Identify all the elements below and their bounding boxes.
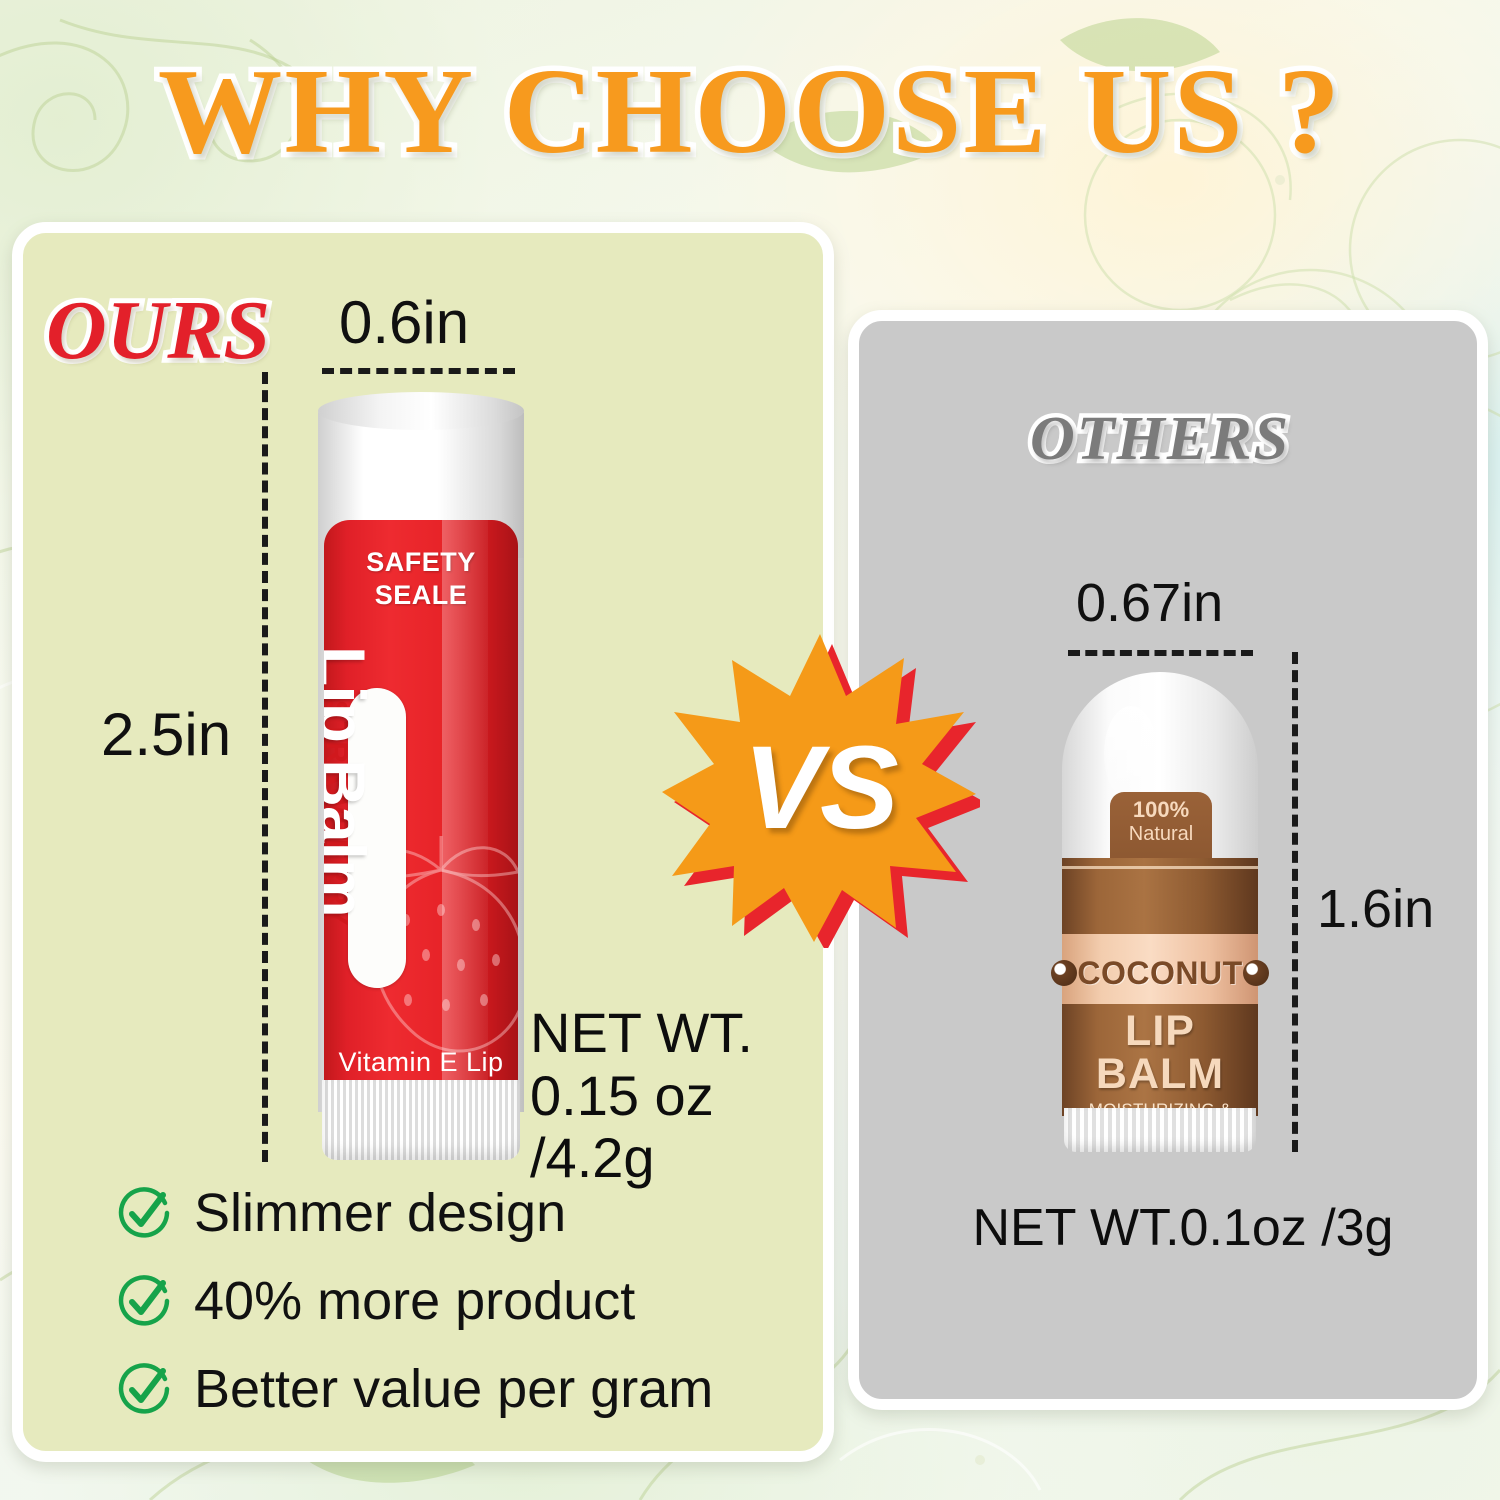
benefit-label: Slimmer design bbox=[194, 1186, 566, 1240]
others-width-dashed-line bbox=[1068, 650, 1253, 656]
others-tube-base bbox=[1064, 1108, 1256, 1152]
others-badge-top: 100% bbox=[1133, 797, 1189, 822]
others-height-dashed-line bbox=[1292, 652, 1298, 1152]
vs-label: VS bbox=[660, 628, 980, 948]
others-width-label: 0.67in bbox=[1076, 572, 1223, 634]
ours-tube-cap-top-ellipse bbox=[318, 392, 524, 430]
ours-width-label: 0.6in bbox=[339, 288, 469, 357]
ours-product-name: Lip Balm bbox=[324, 646, 380, 1036]
others-tube-upper-band bbox=[1062, 858, 1258, 942]
check-circle-icon bbox=[118, 1275, 170, 1327]
others-product-name: LIP BALM bbox=[1062, 1010, 1258, 1096]
check-circle-icon bbox=[118, 1363, 170, 1415]
vs-badge: VS bbox=[660, 628, 980, 948]
ours-net-weight: NET WT. 0.15 oz /4.2g bbox=[530, 1002, 830, 1190]
ours-product-tube: SAFETY SEALE STRAWBERRY Lip Balm Vitamin… bbox=[318, 392, 524, 1162]
ours-tube-base bbox=[322, 1080, 520, 1160]
others-height-label: 1.6in bbox=[1317, 878, 1434, 940]
ours-heading: OURS bbox=[46, 282, 270, 379]
ours-width-dashed-line bbox=[322, 368, 515, 374]
others-flavor-band: COCONUT bbox=[1062, 934, 1258, 1012]
others-net-weight: NET WT.0.1oz /3g bbox=[948, 1198, 1418, 1258]
benefit-label: 40% more product bbox=[194, 1274, 635, 1328]
ours-net-weight-line2: 0.15 oz /4.2g bbox=[530, 1065, 830, 1190]
page-title: WHY CHOOSE US ? bbox=[0, 42, 1500, 182]
others-badge-bottom: Natural bbox=[1110, 823, 1212, 845]
check-circle-icon bbox=[118, 1187, 170, 1239]
ours-tube-label: SAFETY SEALE STRAWBERRY Lip Balm Vitamin… bbox=[324, 520, 518, 1092]
ours-tube-gloss bbox=[442, 520, 488, 1092]
list-item: 40% more product bbox=[118, 1274, 818, 1328]
others-tube-cap-highlight bbox=[1104, 706, 1158, 802]
ours-safety-seal-text: SAFETY SEALE bbox=[324, 546, 518, 612]
benefit-label: Better value per gram bbox=[194, 1362, 713, 1416]
others-flavor-text: COCONUT bbox=[1077, 955, 1242, 992]
ours-height-label: 2.5in bbox=[101, 700, 231, 769]
list-item: Slimmer design bbox=[118, 1186, 818, 1240]
others-tube-lower-band: LIP BALM MOISTURIZING & SOOTHING NET WT.… bbox=[1062, 1004, 1258, 1116]
others-heading: OTHERS bbox=[1030, 404, 1290, 475]
coconut-icon-right bbox=[1243, 960, 1269, 986]
ours-height-dashed-line bbox=[262, 372, 268, 1162]
ours-product-footer: Vitamin E Lip bbox=[324, 1047, 518, 1078]
coconut-icon-left bbox=[1051, 960, 1077, 986]
benefits-list: Slimmer design 40% more product Better v… bbox=[118, 1186, 818, 1450]
list-item: Better value per gram bbox=[118, 1362, 818, 1416]
ours-net-weight-line1: NET WT. bbox=[530, 1002, 830, 1065]
others-product-tube: 100% Natural COCONUT LIP BALM MOISTURIZI… bbox=[1062, 672, 1258, 1150]
